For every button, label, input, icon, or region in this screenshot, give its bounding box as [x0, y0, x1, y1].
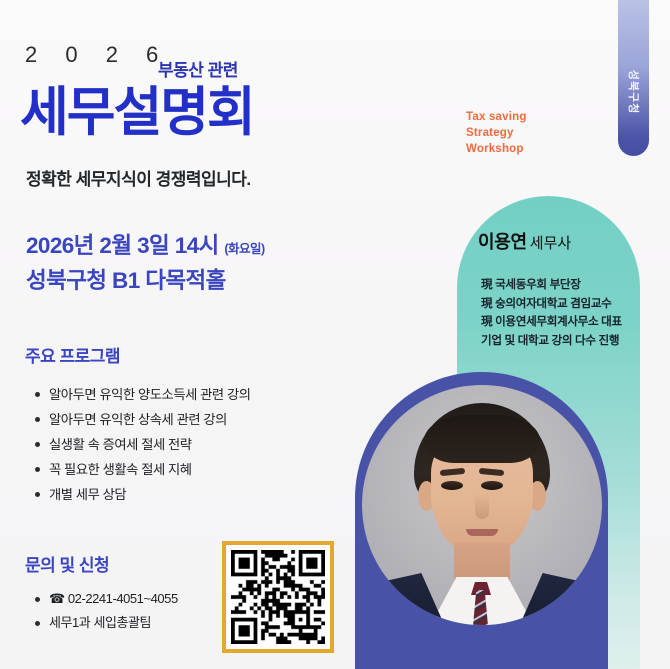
english-line-1: Tax saving [466, 109, 527, 125]
program-heading: 주요 프로그램 [25, 342, 120, 367]
list-item: 기업 및 대학교 강의 다수 진행 [481, 332, 656, 351]
event-date: 2026년 2월 3일 14시 [26, 233, 219, 258]
portrait-mouth [466, 529, 498, 536]
list-item: 꼭 필요한 생활속 절세 지혜 [32, 457, 251, 482]
event-venue: 성북구청 B1 다목적홀 [26, 265, 265, 296]
contact-heading: 문의 및 신청 [25, 551, 109, 576]
list-item: 세무1과 세입총괄팀 [32, 611, 178, 635]
english-subtitle: Tax saving Strategy Workshop [466, 109, 527, 157]
poster-canvas: 성북구청 2 0 2 6 부동산 관련 세무설명회 정확한 세무지식이 경쟁력입… [0, 0, 670, 669]
speaker-title: 세무사 [530, 235, 571, 252]
portrait-eye-left [441, 481, 463, 490]
portrait-nose [475, 493, 489, 519]
list-item: 現 숭의여자대학교 겸임교수 [481, 295, 656, 314]
tagline: 정확한 세무지식이 경쟁력입니다. [26, 165, 251, 190]
speaker-name-block: 이용연세무사 [478, 228, 571, 254]
contact-list: ☎ 02-2241-4051~4055 세무1과 세입총괄팀 [32, 587, 178, 635]
english-line-3: Workshop [466, 141, 527, 157]
page-title: 세무설명회 [20, 84, 254, 142]
english-line-2: Strategy [466, 125, 527, 141]
year-label: 2 0 2 6 [25, 42, 169, 68]
list-item: 알아두면 유익한 상속세 관련 강의 [32, 407, 251, 432]
event-date-line: 2026년 2월 3일 14시 (화요일) [26, 230, 265, 265]
speaker-bio-list: 現 국세동우회 부단장 現 숭의여자대학교 겸임교수 現 이용연세무회계사무소 … [481, 276, 656, 350]
portrait-fringe [424, 415, 540, 463]
list-item: 실생활 속 증여세 절세 전략 [32, 432, 251, 457]
list-item: 現 이용연세무회계사무소 대표 [481, 313, 656, 332]
list-item: 알아두면 유익한 양도소득세 관련 강의 [32, 382, 251, 407]
list-item: ☎ 02-2241-4051~4055 [32, 587, 178, 611]
side-tab-label: 성북구청 [626, 70, 642, 114]
event-datetime-block: 2026년 2월 3일 14시 (화요일) 성북구청 B1 다목적홀 [26, 230, 265, 296]
kicker-label: 부동산 관련 [158, 56, 238, 81]
event-day-of-week: (화요일) [224, 242, 264, 256]
list-item: 現 국세동우회 부단장 [481, 276, 656, 295]
speaker-name: 이용연 [478, 232, 527, 252]
list-item: 개별 세무 상담 [32, 482, 251, 507]
qr-code[interactable] [222, 541, 334, 653]
speaker-portrait [362, 385, 602, 625]
program-list: 알아두면 유익한 양도소득세 관련 강의 알아두면 유익한 상속세 관련 강의 … [32, 382, 251, 507]
portrait-eye-right [481, 481, 503, 490]
qr-code-image [231, 550, 325, 644]
side-tab: 성북구청 [618, 0, 649, 156]
